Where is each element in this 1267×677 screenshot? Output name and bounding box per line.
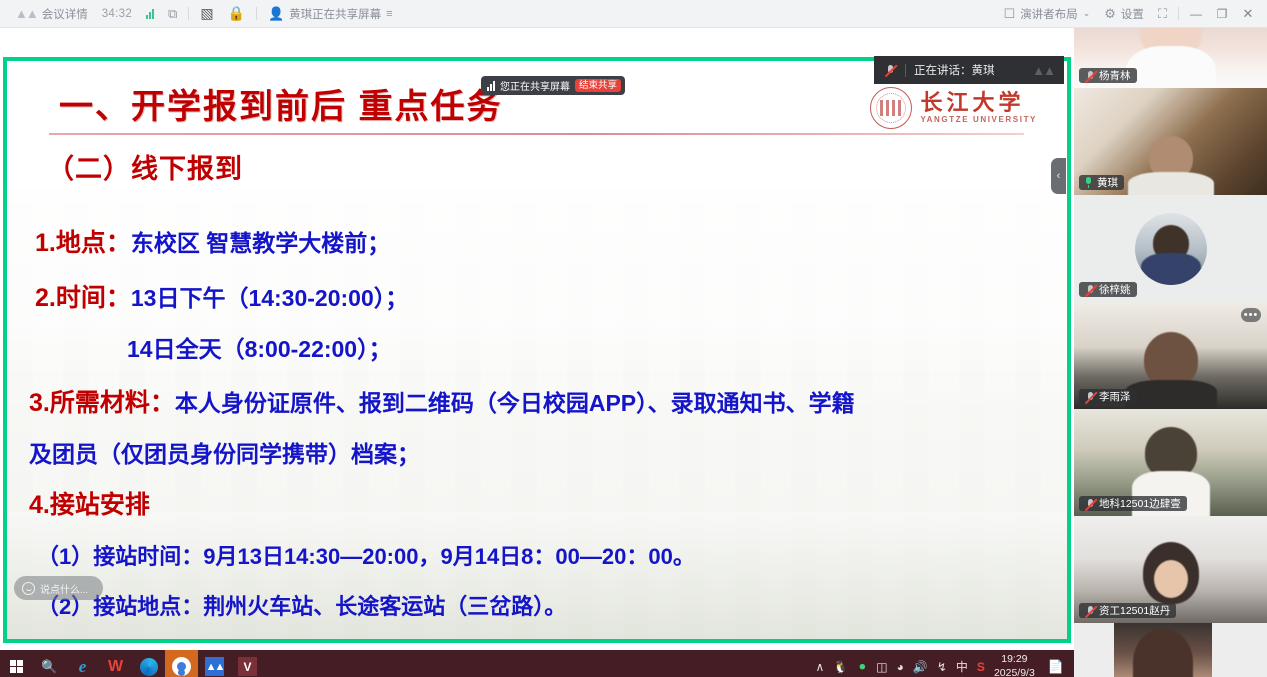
participant-tile-0[interactable]: 杨青林 <box>1074 28 1267 88</box>
search-button[interactable]: 🔍 <box>33 650 66 677</box>
participant-name-3: 李雨泽 <box>1099 389 1131 404</box>
slide-item-3: 3.所需材料：本人身份证原件、报到二维码（今日校园APP）、录取通知书、学籍 <box>29 391 855 416</box>
taskbar-internet-explorer[interactable]: e <box>66 650 99 677</box>
mic-muted-icon <box>1084 498 1095 509</box>
participant-tile-2[interactable]: 徐梓姚 <box>1074 195 1267 302</box>
minimize-button[interactable]: — <box>1183 0 1209 28</box>
sharing-user-label: 黄琪正在共享屏幕 <box>289 6 381 22</box>
sogou-icon[interactable]: S <box>977 660 985 674</box>
slide-item-4b: （2）接站地点：荆州火车站、长途客运站（三岔路）。 <box>37 596 566 618</box>
slide-item-2: 2.时间：13日下午（14:30-20:00）； <box>35 286 408 311</box>
participant-name-2: 徐梓姚 <box>1099 282 1131 297</box>
meeting-timer: 34:32 <box>95 0 139 28</box>
item-3-value: 本人身份证原件、报到二维码（今日校园APP）、录取通知书、学籍 <box>175 390 855 416</box>
settings-button[interactable]: ⚙ 设置 <box>1097 0 1151 28</box>
participant-avatar-2 <box>1135 213 1207 285</box>
start-button[interactable] <box>0 650 33 677</box>
participant-tile-4[interactable]: 地科12501边肆壹 <box>1074 409 1267 516</box>
annotate-lock-icon: 🔒 <box>228 5 245 22</box>
tencent-meeting-logo-icon: ▲▲ <box>15 6 37 21</box>
bluetooth-icon[interactable]: ↯ <box>937 660 947 674</box>
sharing-status-pill: 您正在共享屏幕 结束共享 <box>481 76 625 95</box>
slide-title: 一、开学报到前后 重点任务 <box>59 79 502 128</box>
collapse-panel-button[interactable]: ‹ <box>1051 158 1066 194</box>
signal-strength-button[interactable] <box>139 0 161 28</box>
notification-icon[interactable]: 📄 <box>1048 659 1064 675</box>
pill-divider <box>905 64 906 77</box>
participant-tile-6[interactable] <box>1074 623 1267 677</box>
people-icon <box>172 657 191 676</box>
slide-section-heading: （二）线下报到 <box>47 147 243 186</box>
taskbar-wps-office[interactable]: W <box>99 650 132 677</box>
chat-input-overlay[interactable]: 说点什么... <box>14 576 103 600</box>
university-name-cn: 长江大学 <box>920 92 1037 114</box>
presentation-slide: 一、开学报到前后 重点任务 长江大学 YANGTZE UNIVERSITY （二… <box>7 61 1067 639</box>
signal-bars-icon <box>146 8 154 19</box>
end-share-button[interactable]: 结束共享 <box>575 79 621 93</box>
settings-label: 设置 <box>1121 6 1144 22</box>
layout-selector[interactable]: ☐ 演讲者布局 ⌄ <box>997 0 1098 28</box>
toolbar-divider-2 <box>256 7 257 20</box>
tencent-meeting-logo-icon: ▲▲ <box>1032 63 1054 78</box>
meeting-toolbar: ▲▲ 会议详情 34:32 ⧉ ▧ 🔒 👤 黄琪正在共享屏幕 <box>0 0 1267 28</box>
participant-name-0: 杨青林 <box>1099 68 1131 83</box>
meeting-window: ▲▲ 会议详情 34:32 ⧉ ▧ 🔒 👤 黄琪正在共享屏幕 <box>0 0 1267 677</box>
screenshot-button[interactable]: ▧ <box>193 0 220 28</box>
participant-name-5: 资工12501赵丹 <box>1099 603 1170 618</box>
toolbar-divider <box>188 7 189 20</box>
gear-icon: ⚙ <box>1104 6 1116 22</box>
tray-overflow-button[interactable]: ∧ <box>815 660 824 674</box>
participant-name-1: 黄琪 <box>1097 175 1118 190</box>
mic-on-icon <box>1084 177 1093 188</box>
popout-window-button[interactable]: ⧉ <box>161 0 184 28</box>
participant-name-4: 地科12501边肆壹 <box>1099 496 1181 511</box>
university-seal-icon <box>870 87 912 129</box>
search-icon: 🔍 <box>41 659 57 675</box>
participant-tile-5[interactable]: 资工12501赵丹 <box>1074 516 1267 623</box>
taskbar-tencent-meeting[interactable]: ▲▲ <box>198 650 231 677</box>
signal-bars-icon <box>487 80 495 91</box>
participant-name-badge-0: 杨青林 <box>1079 68 1137 83</box>
popout-window-icon: ⧉ <box>168 6 177 22</box>
penguin-icon[interactable]: 🐧 <box>833 660 848 674</box>
university-logo: 长江大学 YANGTZE UNIVERSITY <box>870 87 1037 129</box>
participant-more-button-3[interactable]: ••• <box>1241 308 1261 322</box>
title-underline <box>49 133 1024 135</box>
active-speaker-label: 正在讲话：黄琪 <box>914 62 995 78</box>
participant-name-badge-2: 徐梓姚 <box>1079 282 1137 297</box>
volume-icon[interactable]: 🔊 <box>913 660 928 674</box>
sharing-user-indicator[interactable]: 👤 黄琪正在共享屏幕 ≡ <box>261 0 400 28</box>
wifi-icon[interactable]: ◕ <box>897 660 904 674</box>
shared-screen-region: 一、开学报到前后 重点任务 长江大学 YANGTZE UNIVERSITY （二… <box>0 28 1074 677</box>
mic-muted-icon <box>1084 605 1095 616</box>
mic-muted-icon <box>1084 391 1095 402</box>
item-3-label: 3.所需材料： <box>29 389 175 417</box>
participant-name-badge-5: 资工12501赵丹 <box>1079 603 1176 618</box>
fullscreen-icon: ⛶ <box>1158 6 1167 22</box>
system-tray: ∧ 🐧 ⚫ ◫ ◕ 🔊 ↯ 中 S 19:29 2025/9/3 📄 <box>815 653 1074 677</box>
list-lines-icon: ≡ <box>386 8 392 20</box>
maximize-button[interactable]: ❐ <box>1209 0 1235 28</box>
participant-name-badge-3: 李雨泽 <box>1079 389 1137 404</box>
layout-icon: ☐ <box>1004 6 1016 22</box>
taskbar-microsoft-edge[interactable] <box>132 650 165 677</box>
item-2-value: 13日下午（14:30-20:00）； <box>131 285 408 311</box>
meeting-details-button[interactable]: ▲▲ 会议详情 <box>8 0 95 28</box>
participant-video-6 <box>1114 623 1212 677</box>
windows-taskbar: 🔍 e W ▲▲ V ∧ 🐧 ⚫ <box>0 650 1074 677</box>
meeting-details-label: 会议详情 <box>42 6 88 22</box>
screenshot-disabled-icon: ▧ <box>200 5 213 22</box>
sharing-status-text: 您正在共享屏幕 <box>500 78 570 93</box>
item-1-label: 1.地点： <box>35 229 131 257</box>
slide-item-1: 1.地点：东校区 智慧教学大楼前； <box>35 231 390 256</box>
slide-background-foliage <box>7 512 1067 639</box>
tencent-meeting-icon: ▲▲ <box>205 657 224 676</box>
wps-icon: W <box>108 658 123 676</box>
slide-item-2b: 14日全天（8:00-22:00）； <box>127 338 392 361</box>
chevron-down-icon: ⌄ <box>1083 8 1091 19</box>
annotate-button[interactable]: 🔒 <box>221 0 252 28</box>
share-green-frame: 一、开学报到前后 重点任务 长江大学 YANGTZE UNIVERSITY （二… <box>3 57 1071 643</box>
participant-tile-3[interactable]: ••• 李雨泽 <box>1074 302 1267 409</box>
active-speaker-pill: 正在讲话：黄琪 ▲▲ <box>874 56 1064 84</box>
edge-icon <box>140 658 158 676</box>
toolbar-divider-3 <box>1178 7 1179 20</box>
participant-strip[interactable]: 杨青林 黄琪 徐梓姚 <box>1074 28 1267 677</box>
taskbar-clock[interactable]: 19:29 2025/9/3 <box>994 653 1035 677</box>
mic-muted-icon <box>1084 70 1095 81</box>
slide-item-4: 4.接站安排 <box>29 493 150 518</box>
user-share-icon: 👤 <box>268 6 284 22</box>
chat-input-placeholder: 说点什么... <box>40 581 88 596</box>
participant-tile-1[interactable]: 黄琪 <box>1074 88 1267 195</box>
mic-muted-icon <box>884 64 897 77</box>
battery-icon[interactable]: ◫ <box>876 660 887 674</box>
university-name-en: YANGTZE UNIVERSITY <box>920 115 1037 124</box>
ime-indicator[interactable]: 中 <box>956 658 968 675</box>
participant-name-badge-4: 地科12501边肆壹 <box>1079 496 1187 511</box>
fullscreen-button[interactable]: ⛶ <box>1151 0 1174 28</box>
clock-date: 2025/9/3 <box>994 667 1035 677</box>
slide-item-3b: 及团员（仅团员身份同学携带）档案； <box>29 443 420 466</box>
item-1-value: 东校区 智慧教学大楼前； <box>131 230 390 256</box>
wechat-icon[interactable]: ⚫ <box>857 660 867 674</box>
participant-name-badge-1: 黄琪 <box>1079 175 1124 190</box>
taskbar-people-app[interactable] <box>165 650 198 677</box>
mic-muted-icon <box>1084 284 1095 295</box>
ie-icon: e <box>79 657 87 677</box>
smiley-icon <box>22 582 35 595</box>
layout-label: 演讲者布局 <box>1020 6 1078 22</box>
item-2-label: 2.时间： <box>35 284 131 312</box>
windows-logo-icon <box>10 660 23 673</box>
clock-time: 19:29 <box>1001 653 1027 665</box>
close-button[interactable]: ✕ <box>1235 0 1261 28</box>
slide-item-4a: （1）接站时间：9月13日14:30—20:00，9月14日8：00—20：00… <box>37 546 695 568</box>
vbox-icon: V <box>238 657 257 676</box>
taskbar-virtualbox[interactable]: V <box>231 650 264 677</box>
